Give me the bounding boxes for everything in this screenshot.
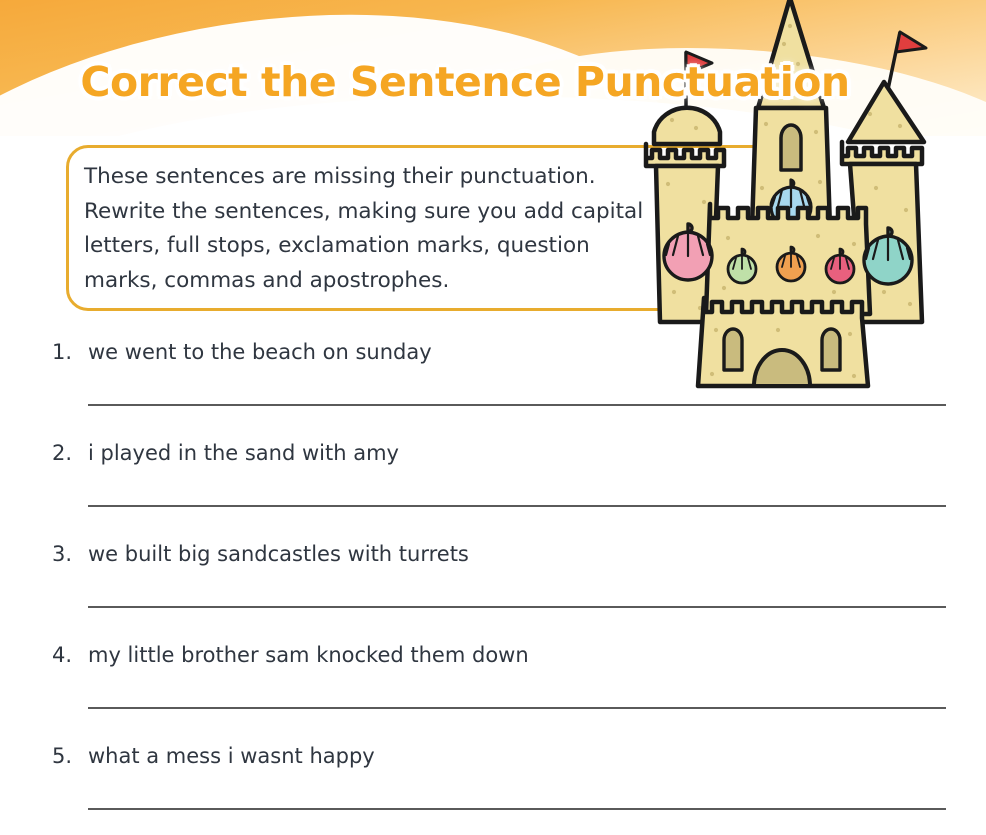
question-number: 2. — [52, 441, 72, 465]
answer-line[interactable] — [88, 707, 946, 709]
question-sentence: my little brother sam knocked them down — [88, 643, 529, 667]
question-row: 4. my little brother sam knocked them do… — [0, 633, 986, 734]
question-row: 2. i played in the sand with amy — [0, 431, 986, 532]
question-number: 5. — [52, 744, 72, 768]
question-number: 4. — [52, 643, 72, 667]
question-sentence: i played in the sand with amy — [88, 441, 399, 465]
questions-list: 1. we went to the beach on sunday 2. i p… — [0, 330, 986, 835]
question-sentence: what a mess i wasnt happy — [88, 744, 375, 768]
answer-line[interactable] — [88, 606, 946, 608]
answer-line[interactable] — [88, 404, 946, 406]
question-number: 3. — [52, 542, 72, 566]
answer-line[interactable] — [88, 808, 946, 810]
page-title: Correct the Sentence Punctuation — [0, 58, 930, 106]
answer-line[interactable] — [88, 505, 946, 507]
question-row: 5. what a mess i wasnt happy — [0, 734, 986, 835]
instruction-text: These sentences are missing their punctu… — [84, 160, 654, 298]
question-row: 3. we built big sandcastles with turrets — [0, 532, 986, 633]
question-sentence: we built big sandcastles with turrets — [88, 542, 469, 566]
question-row: 1. we went to the beach on sunday — [0, 330, 986, 431]
question-number: 1. — [52, 340, 72, 364]
question-sentence: we went to the beach on sunday — [88, 340, 432, 364]
